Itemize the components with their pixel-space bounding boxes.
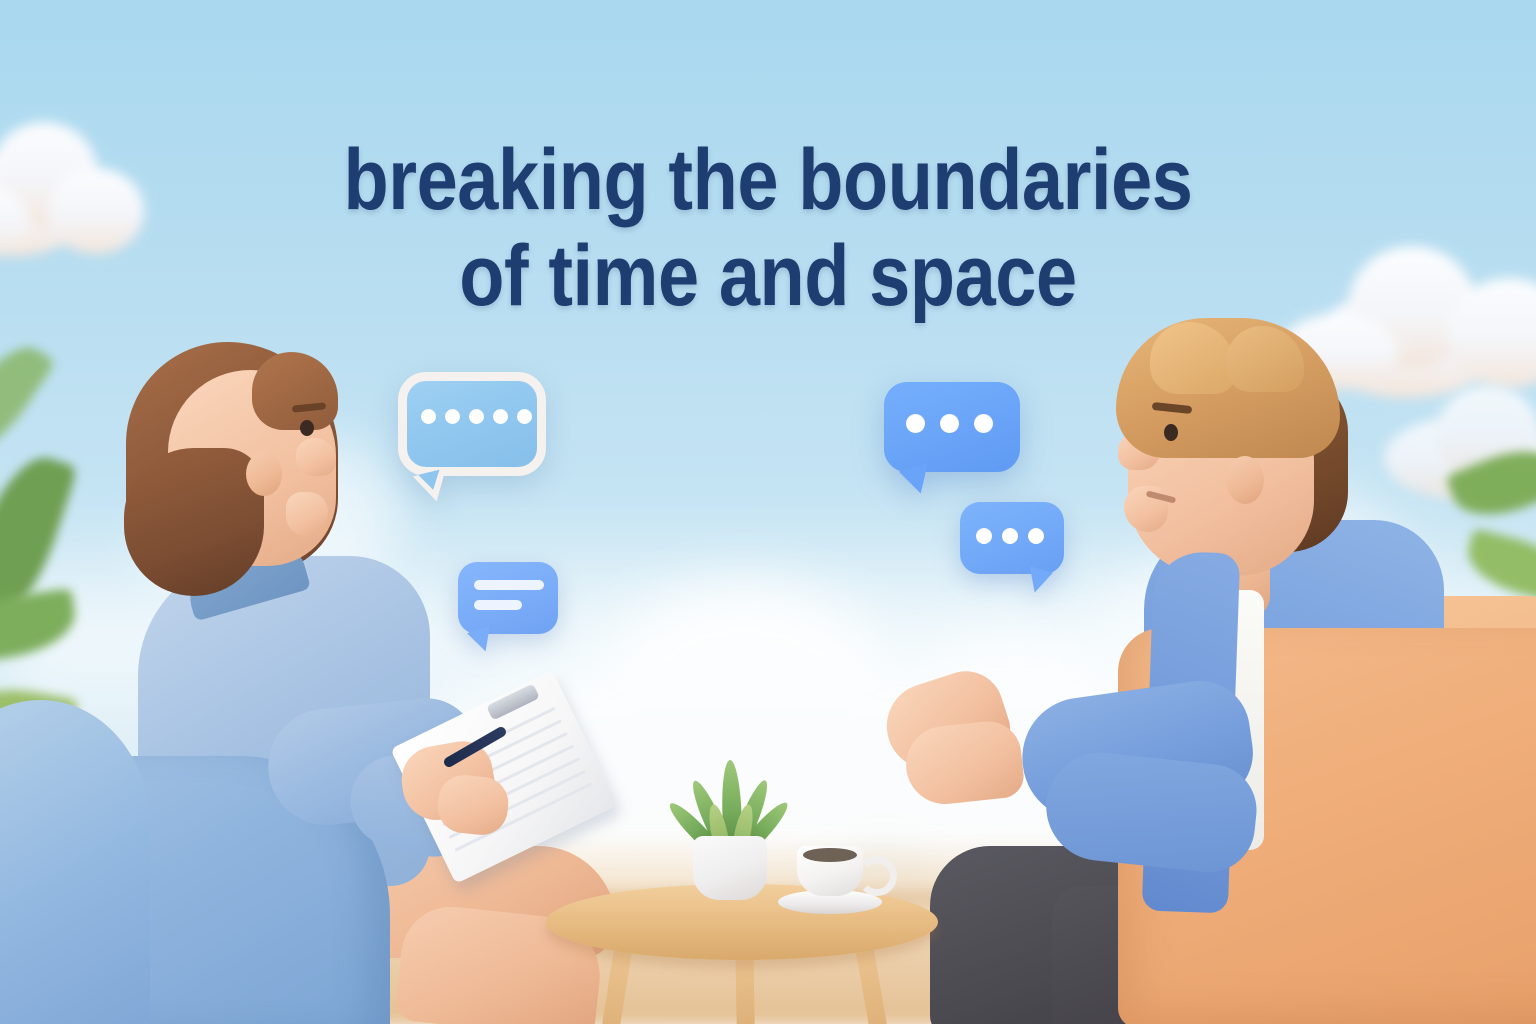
speech-bubble-dots-3-right-icon bbox=[960, 502, 1064, 574]
illustration-canvas: breaking the boundaries of time and spac… bbox=[0, 0, 1536, 1024]
cup-handle bbox=[857, 856, 897, 896]
armchair-left-arm bbox=[0, 700, 150, 1024]
title-line-2: of time and space bbox=[108, 228, 1429, 324]
page-title: breaking the boundaries of time and spac… bbox=[108, 132, 1429, 325]
speech-bubble-dots-3-left-icon bbox=[884, 382, 1020, 472]
title-line-1: breaking the boundaries bbox=[108, 132, 1429, 228]
speech-bubble-dots-5-icon bbox=[398, 372, 546, 476]
plant-pot bbox=[693, 836, 767, 900]
cup-coffee-surface bbox=[803, 848, 857, 862]
speech-bubble-lines-icon bbox=[458, 562, 558, 634]
